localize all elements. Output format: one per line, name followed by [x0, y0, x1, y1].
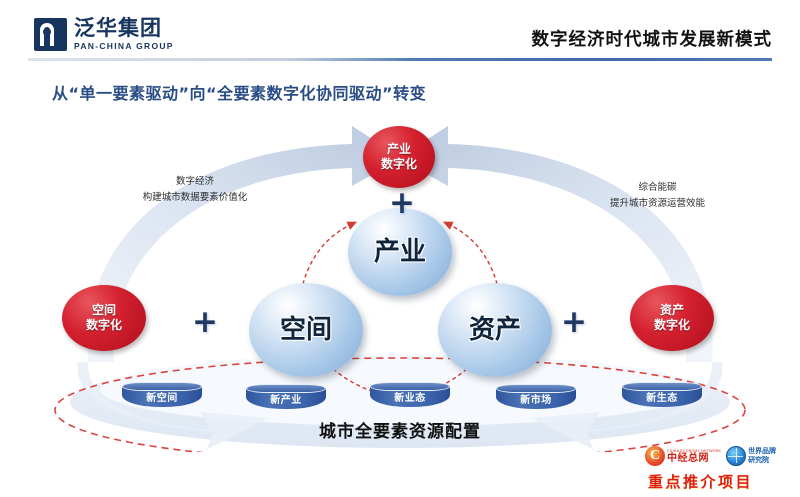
node-asset-label: 资产: [469, 316, 521, 344]
plus-symbol-right: +: [561, 307, 587, 338]
globe-icon: [726, 446, 746, 466]
cylinder-new-ecology-top: [622, 382, 702, 391]
cylinder-new-market-top: [496, 384, 576, 393]
footer-endorsement: CHINA ECONOMY NETWORK 中经总网 世界品牌 研究院 重点推介…: [645, 446, 795, 494]
cylinder-new-industry[interactable]: 新产业: [246, 384, 326, 409]
note-left-line1: 数字经济: [105, 174, 285, 190]
plus-symbol-top: +: [389, 188, 415, 219]
logo-text-block: 泛华集团 PAN-CHINA GROUP: [74, 18, 174, 51]
cylinder-new-format-label: 新业态: [394, 389, 426, 404]
node-industry-digitalization-line2: 数字化: [381, 157, 417, 172]
header-divider: [28, 58, 772, 61]
node-asset[interactable]: 资产: [438, 283, 552, 377]
note-right: 综合能碳 提升城市资源运营效能: [565, 180, 750, 212]
note-right-line1: 综合能碳: [565, 180, 750, 196]
node-space-digitalization-line2: 数字化: [86, 318, 122, 333]
cylinder-new-space[interactable]: 新空间: [122, 382, 202, 407]
node-asset-digitalization[interactable]: 资产 数字化: [630, 285, 714, 351]
badge2-line1: 世界品牌: [748, 448, 776, 455]
cylinder-new-industry-top: [246, 384, 326, 393]
slide-subtitle: 从“单一要素驱动”向“全要素数字化协同驱动”转变: [52, 80, 426, 104]
cylinder-new-market-label: 新市场: [520, 391, 552, 406]
cylinder-new-ecology[interactable]: 新生态: [622, 382, 702, 407]
badge2-text: 世界品牌 研究院: [748, 448, 776, 464]
node-space-digitalization[interactable]: 空间 数字化: [62, 285, 146, 351]
node-industry-digitalization[interactable]: 产业 数字化: [363, 126, 435, 188]
node-industry-digitalization-line1: 产业: [387, 142, 411, 157]
china-economy-c-icon: [645, 446, 665, 466]
logo-chinese-name: 泛华集团: [74, 18, 174, 39]
node-industry[interactable]: 产业: [348, 208, 452, 296]
badge1-title: 中经总网: [667, 454, 721, 464]
cylinder-new-industry-label: 新产业: [270, 391, 302, 406]
badge2-line2: 研究院: [748, 457, 776, 464]
slide-canvas: 泛华集团 PAN-CHINA GROUP 数字经济时代城市发展新模式 从“单一要…: [0, 0, 800, 497]
note-right-line2: 提升城市资源运营效能: [565, 196, 750, 212]
badge-china-economy-network: CHINA ECONOMY NETWORK 中经总网: [645, 446, 721, 466]
note-left: 数字经济 构建城市数据要素价值化: [105, 174, 285, 206]
node-asset-digitalization-line2: 数字化: [654, 318, 690, 333]
footer-badges-row: CHINA ECONOMY NETWORK 中经总网 世界品牌 研究院: [645, 446, 776, 466]
cylinder-new-format[interactable]: 新业态: [370, 382, 450, 407]
cylinder-new-ecology-label: 新生态: [646, 389, 678, 404]
diagram-stage: 数字经济 构建城市数据要素价值化 综合能碳 提升城市资源运营效能 产业 数字化 …: [0, 112, 800, 452]
badge1-text: CHINA ECONOMY NETWORK 中经总网: [667, 448, 721, 463]
footer-tagline: 重点推介项目: [648, 471, 753, 492]
note-left-line2: 构建城市数据要素价值化: [105, 190, 285, 206]
node-asset-digitalization-line1: 资产: [660, 303, 684, 318]
cylinder-new-space-label: 新空间: [146, 389, 178, 404]
node-industry-label: 产业: [374, 238, 426, 266]
logo-english-name: PAN-CHINA GROUP: [74, 42, 174, 51]
slide-header: 泛华集团 PAN-CHINA GROUP 数字经济时代城市发展新模式: [0, 0, 800, 62]
badge-world-brand-institute: 世界品牌 研究院: [726, 446, 776, 466]
cylinder-new-format-top: [370, 382, 450, 391]
slide-title: 数字经济时代城市发展新模式: [532, 26, 773, 51]
pan-china-logo-icon: [34, 18, 67, 51]
base-label: 城市全要素资源配置: [0, 417, 800, 442]
cylinder-new-space-top: [122, 382, 202, 391]
node-space-label: 空间: [280, 316, 332, 344]
node-space-digitalization-line1: 空间: [92, 303, 116, 318]
plus-symbol-left: +: [192, 307, 218, 338]
node-space[interactable]: 空间: [249, 283, 363, 377]
company-logo: 泛华集团 PAN-CHINA GROUP: [34, 18, 174, 51]
cylinder-new-market[interactable]: 新市场: [496, 384, 576, 409]
